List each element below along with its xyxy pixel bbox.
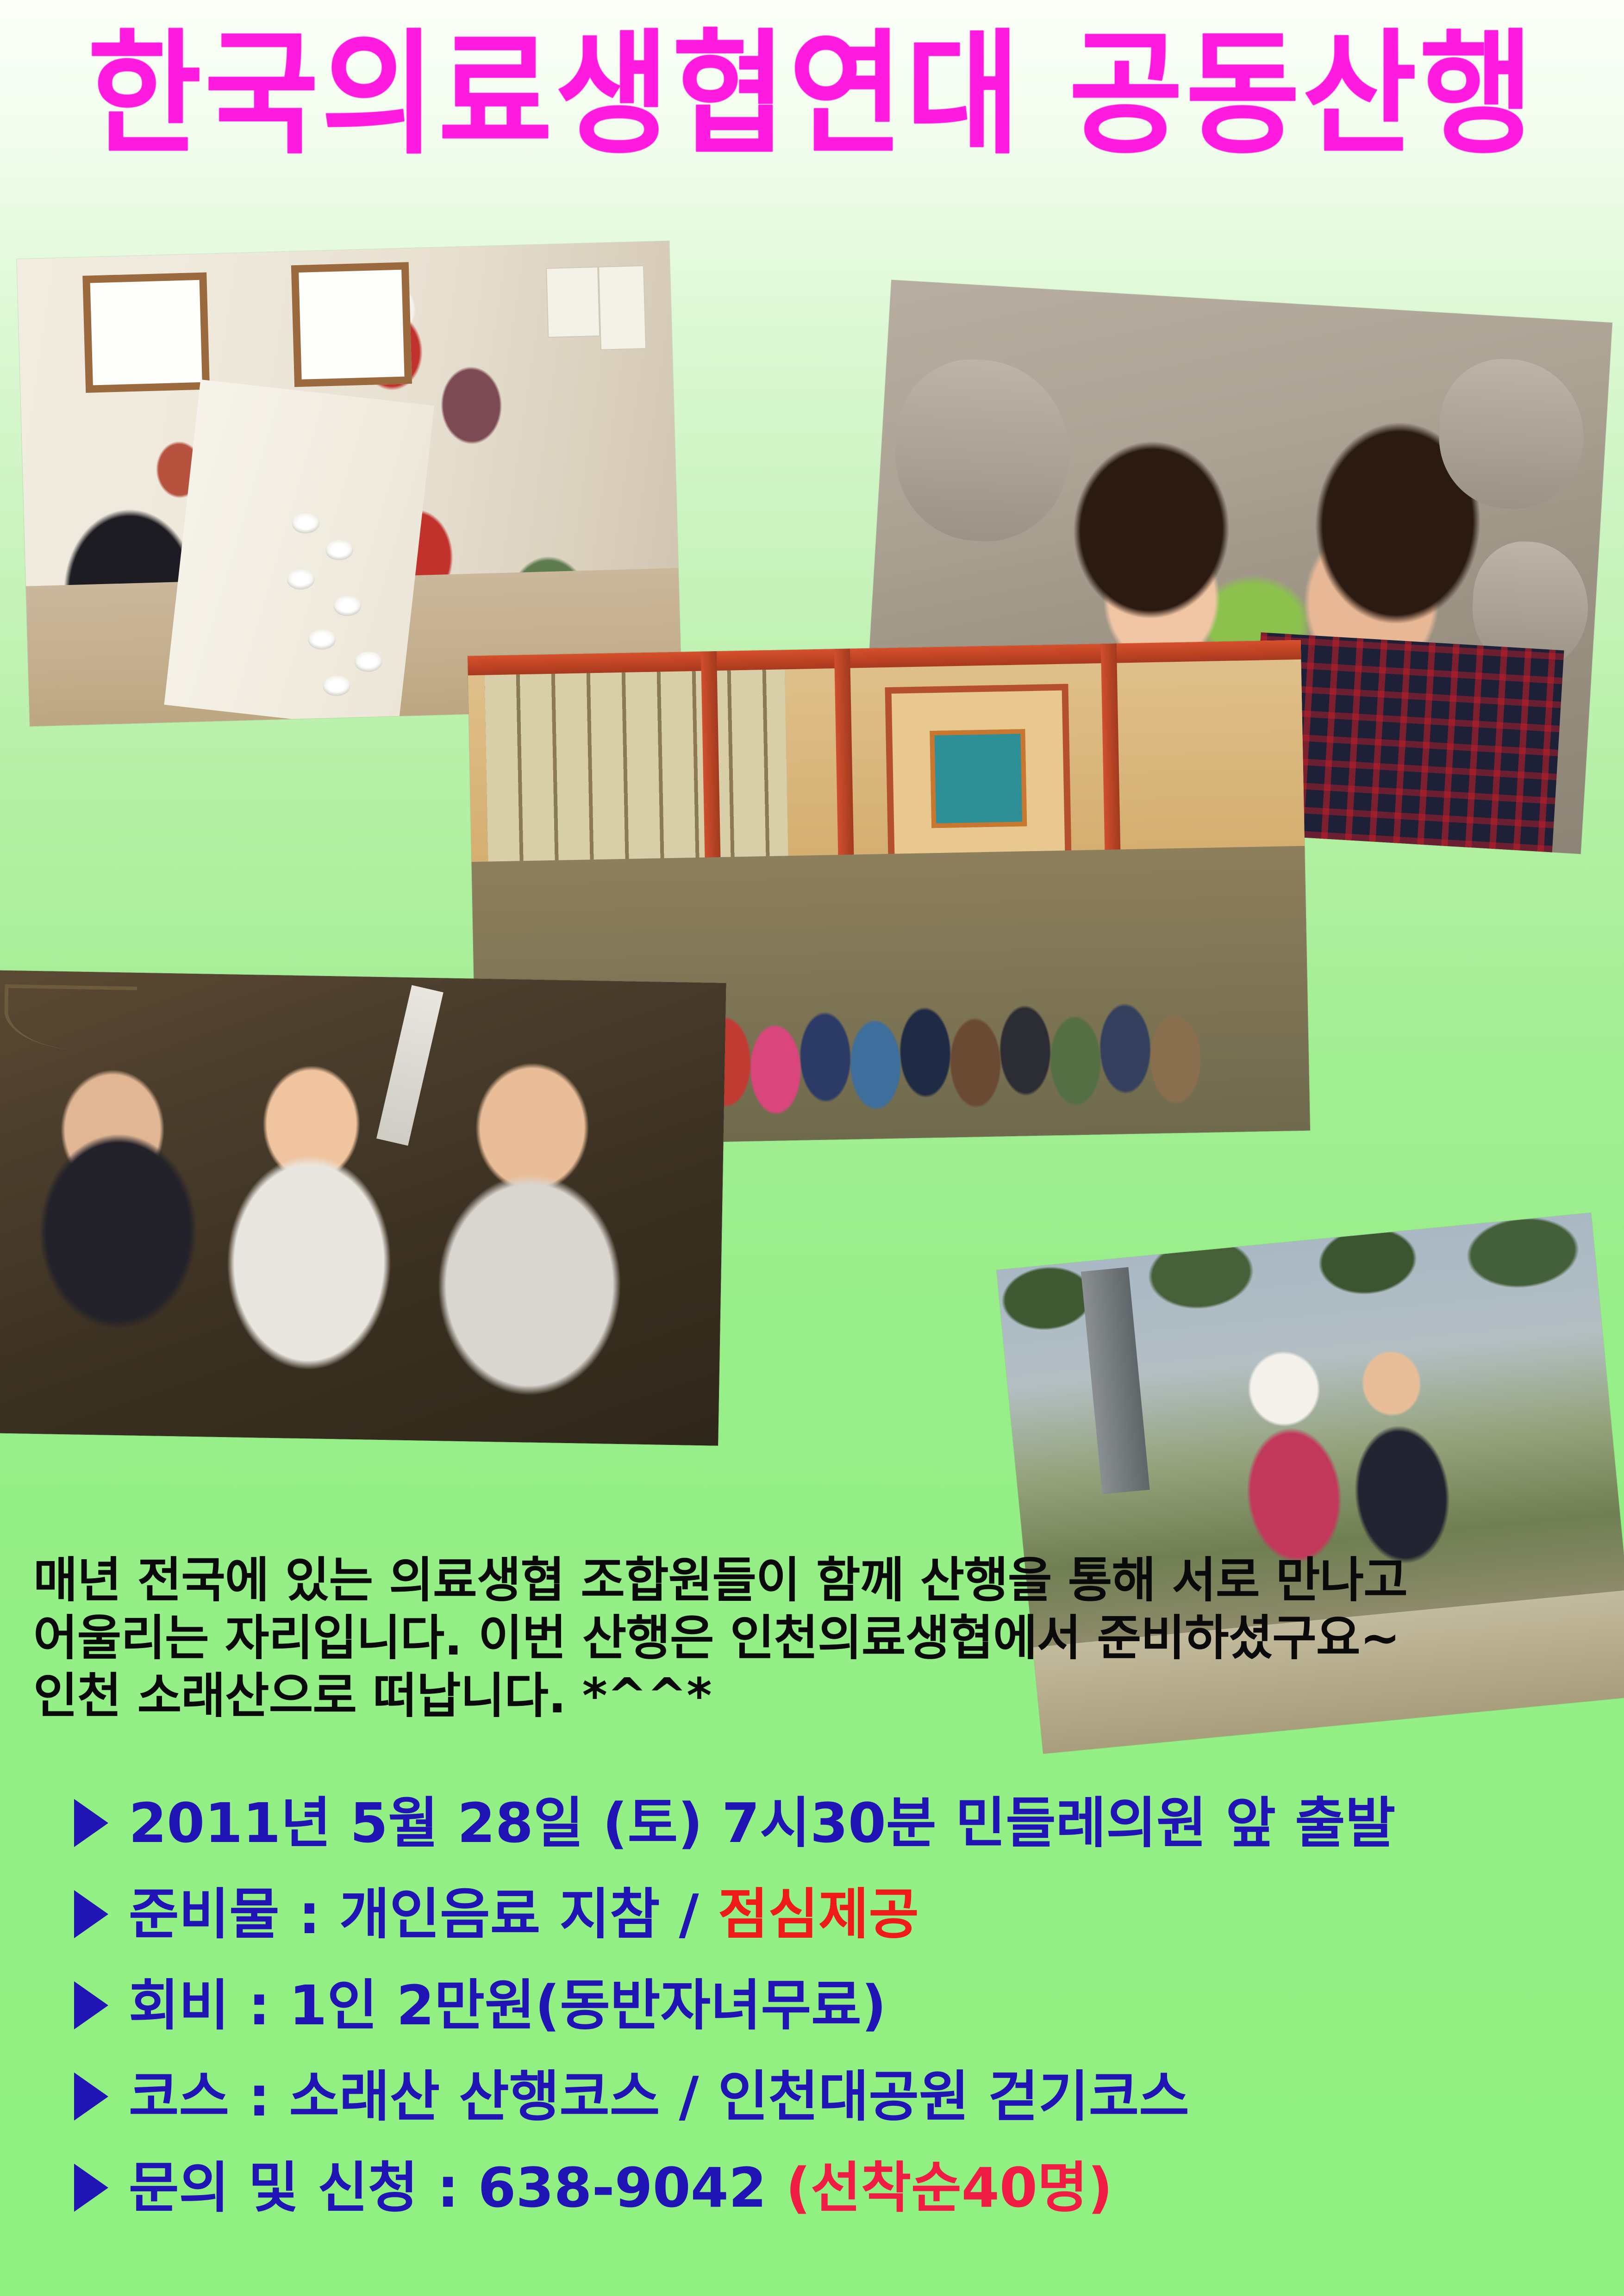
poster-title-container: 한국의료생협연대 공동산행 — [0, 28, 1624, 213]
raised-arm — [376, 985, 443, 1146]
intro-paragraph: 매년 전국에 있는 의료생협 조합원들이 함께 산행을 통해 서로 만나고 어울… — [33, 1551, 1598, 1725]
triangle-right-icon — [74, 1890, 108, 1938]
poster-canvas: 한국의료생협연대 공동산행 — [0, 0, 1624, 2296]
detail-text-fee: 회비 : 1인 2만원(동반자녀무료) — [129, 1978, 887, 2033]
intro-line-1: 매년 전국에 있는 의료생협 조합원들이 함께 산행을 통해 서로 만나고 — [33, 1551, 1598, 1609]
detail-row-items: 준비물 : 개인음료 지참 / 점심제공 — [74, 1868, 1624, 1960]
detail-text-course: 코스 : 소래산 산행코스 / 인천대공원 걷기코스 — [129, 2069, 1189, 2124]
detail-segment-highlight: 점심제공 — [718, 1882, 919, 1946]
temple-gate — [885, 684, 1072, 873]
triangle-right-icon — [74, 2164, 108, 2212]
triangle-right-icon — [74, 1799, 108, 1847]
detail-row-contact: 문의 및 신청 : 638-9042 (선착순40명) — [74, 2142, 1624, 2233]
detail-text-schedule: 2011년 5월 28일 (토) 7시30분 민들레의원 앞 출발 — [129, 1796, 1395, 1850]
detail-list: 2011년 5월 28일 (토) 7시30분 민들레의원 앞 출발 준비물 : … — [74, 1777, 1624, 2233]
detail-text-contact: 문의 및 신청 : 638-9042 (선착순40명) — [129, 2160, 1112, 2215]
photo-collage — [0, 222, 1624, 1541]
detail-segment-highlight: (선착순40명) — [786, 2156, 1112, 2220]
intro-line-3: 인천 소래산으로 떠납니다. *^^* — [33, 1667, 1598, 1725]
long-dining-table — [164, 380, 434, 726]
photo-three-young-hikers — [0, 970, 726, 1446]
page-title: 한국의료생협연대 공동산행 — [87, 28, 1537, 162]
painted-panel-wall — [485, 670, 788, 871]
detail-text-items: 준비물 : 개인음료 지참 / 점심제공 — [129, 1887, 919, 1941]
stone-wall-block — [891, 355, 1074, 546]
detail-segment: 준비물 : 개인음료 지참 / — [129, 1882, 718, 1946]
detail-segment: 회비 : 1인 2만원(동반자녀무료) — [129, 1973, 887, 2037]
wall-calendar-left — [546, 266, 600, 338]
detail-row-schedule: 2011년 5월 28일 (토) 7시30분 민들레의원 앞 출발 — [74, 1777, 1624, 1868]
detail-row-course: 코스 : 소래산 산행코스 / 인천대공원 걷기코스 — [74, 2051, 1624, 2142]
detail-row-fee: 회비 : 1인 2만원(동반자녀무료) — [74, 1960, 1624, 2051]
doorway-right — [291, 262, 412, 387]
wall-calendar-right — [598, 265, 646, 350]
detail-segment: 2011년 5월 28일 (토) 7시30분 민들레의원 앞 출발 — [129, 1791, 1395, 1855]
triangle-right-icon — [74, 1981, 108, 2029]
triangle-right-icon — [74, 2072, 108, 2121]
detail-segment: 코스 : 소래산 산행코스 / 인천대공원 걷기코스 — [129, 2065, 1189, 2128]
bare-branch — [4, 984, 137, 1052]
detail-segment: 문의 및 신청 : 638-9042 — [129, 2156, 786, 2220]
photo-three-young-hikers-image — [0, 970, 726, 1446]
doorway-left — [82, 273, 210, 393]
stone-wall-block — [1435, 355, 1588, 513]
intro-line-2: 어울리는 자리입니다. 이번 산행은 인천의료생협에서 준비하셨구요~ — [33, 1609, 1598, 1667]
gate-lattice — [930, 729, 1027, 828]
